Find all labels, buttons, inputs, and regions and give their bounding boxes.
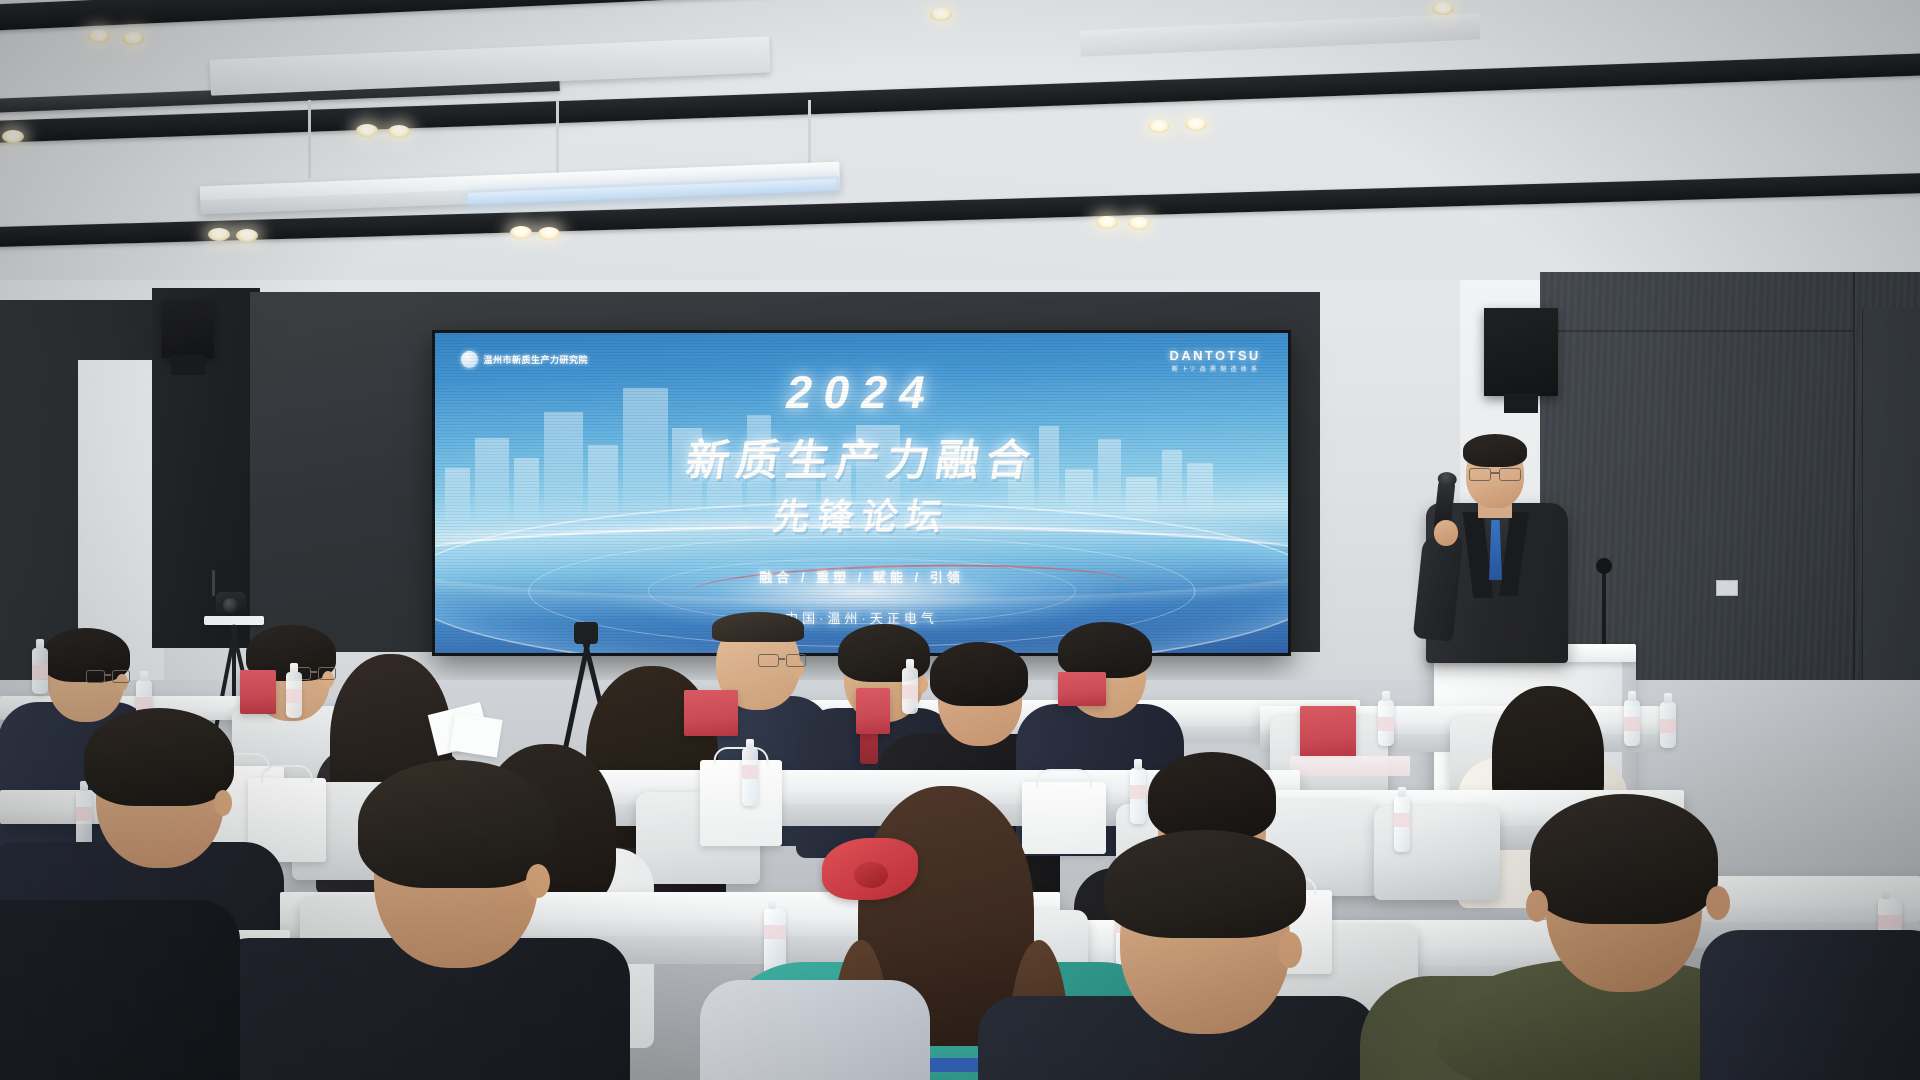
screen-subtitle: 先锋论坛	[769, 488, 953, 540]
ceiling-spotlight	[122, 32, 144, 45]
led-content: 温州市新质生产力研究院 DANTOTSU 断 トツ 品 质 制 造 体 系 20…	[435, 333, 1288, 653]
wall-outlet-plate[interactable]	[1716, 580, 1738, 596]
red-gift-box	[856, 688, 890, 734]
ceiling-spotlight	[1128, 217, 1150, 230]
red-gift-box	[1058, 672, 1106, 706]
institute-emblem-icon	[461, 351, 478, 368]
ceiling-spotlight	[236, 229, 258, 242]
ceiling-air-diffuser-2	[1080, 13, 1481, 56]
ceiling-spotlight	[1148, 120, 1170, 133]
ceiling-spotlight	[88, 30, 110, 43]
water-bottle	[1660, 702, 1676, 748]
tote-bag	[1022, 782, 1106, 854]
water-bottle	[1378, 700, 1394, 746]
wall-speaker-left	[162, 300, 214, 358]
brand-subtitle: 断 トツ 品 质 制 造 体 系	[1170, 364, 1261, 373]
water-bottle	[1394, 796, 1410, 852]
chair	[1374, 806, 1500, 900]
table-runner	[1290, 756, 1410, 776]
ceiling-spotlight	[1096, 216, 1118, 229]
water-bottle	[1624, 700, 1640, 746]
screen-logo-right: DANTOTSU 断 トツ 品 质 制 造 体 系	[1170, 348, 1261, 373]
water-bottle	[76, 790, 92, 848]
institute-name: 温州市新质生产力研究院	[483, 353, 588, 366]
camera-icon	[216, 592, 246, 618]
water-bottle	[286, 672, 302, 718]
screen-year: 2024	[781, 365, 942, 419]
right-wall-door[interactable]	[1862, 308, 1920, 704]
water-bottle	[32, 648, 48, 694]
screen-title: 新质生产力融合	[682, 426, 1042, 488]
ceiling-spotlight	[2, 130, 24, 143]
wall-seam	[1853, 272, 1855, 704]
ceiling-spotlight	[930, 8, 952, 21]
glasses-icon	[1468, 468, 1522, 479]
led-display: 温州市新质生产力研究院 DANTOTSU 断 トツ 品 质 制 造 体 系 20…	[432, 330, 1291, 656]
screen-logo-left: 温州市新质生产力研究院	[461, 351, 588, 368]
ceiling-channel-1	[0, 0, 1920, 32]
conference-photo: 温州市新质生产力研究院 DANTOTSU 断 トツ 品 质 制 造 体 系 20…	[0, 0, 1920, 1080]
water-bottle	[742, 748, 758, 806]
screen-tagline: 融合 / 重塑 / 赋能 / 引领	[759, 567, 964, 586]
tote-bag	[700, 760, 782, 846]
screen-location: 中国·温州·天正电气	[785, 608, 938, 627]
pendant-light	[200, 100, 840, 230]
red-gift-box	[1300, 706, 1356, 758]
wall-seam	[1540, 330, 1853, 332]
brand-name: DANTOTSU	[1170, 348, 1261, 363]
ceiling-spotlight	[1432, 2, 1454, 15]
red-gift-box	[684, 690, 738, 736]
water-bottle	[1130, 768, 1146, 824]
wall-speaker-right	[1484, 308, 1558, 396]
ceiling-spotlight	[1185, 118, 1207, 131]
ceiling	[0, 0, 1920, 300]
water-bottle	[902, 668, 918, 714]
red-gift-box	[240, 670, 276, 714]
